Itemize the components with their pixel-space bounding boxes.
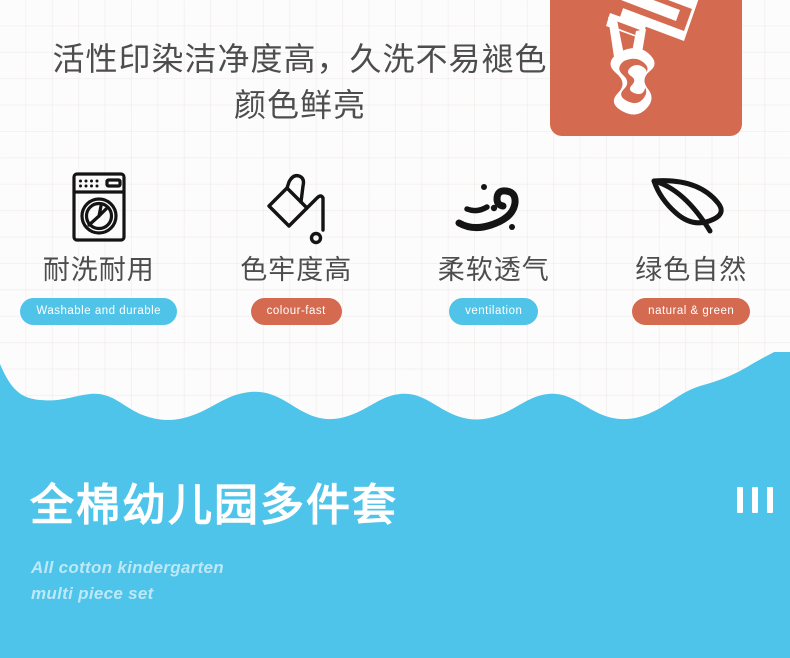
bar-1	[737, 487, 743, 513]
feature-item-ventilation: 柔软透气 ventilation	[395, 168, 593, 325]
banner-title: 全棉幼儿园多件套	[30, 478, 398, 534]
hero-accent-tile	[550, 0, 742, 136]
three-vertical-bars-decoration	[737, 487, 773, 513]
paint-bucket-pouring-icon	[580, 0, 712, 119]
feature-item-washable: 耐洗耐用 Washable and durable	[0, 168, 198, 325]
feature-badge: Washable and durable	[20, 298, 177, 325]
feature-label: 色牢度高	[240, 254, 352, 286]
paint-bucket-icon	[263, 168, 329, 246]
page-headline: 活性印染洁净度高，久洗不易褪色 颜色鲜亮	[44, 36, 556, 128]
feature-badge: natural & green	[632, 298, 750, 325]
breeze-wind-icon	[453, 168, 535, 246]
feature-list: 耐洗耐用 Washable and durable 色牢度高 colour-fa…	[0, 168, 790, 325]
banner-subtitle: All cotton kindergarten multi piece set	[31, 555, 224, 607]
feature-label: 绿色自然	[635, 254, 747, 286]
product-detail-page: 活性印染洁净度高，久洗不易褪色 颜色鲜亮	[0, 0, 790, 658]
feature-label: 柔软透气	[438, 254, 550, 286]
feature-item-colour-fast: 色牢度高 colour-fast	[198, 168, 396, 325]
feature-badge: colour-fast	[251, 298, 342, 325]
leaf-icon	[648, 168, 734, 246]
feature-item-natural-green: 绿色自然 natural & green	[593, 168, 790, 325]
bar-2	[752, 487, 758, 513]
feature-badge: ventilation	[449, 298, 538, 325]
feature-label: 耐洗耐用	[43, 254, 155, 286]
bar-3	[767, 487, 773, 513]
washing-machine-icon	[68, 168, 130, 246]
